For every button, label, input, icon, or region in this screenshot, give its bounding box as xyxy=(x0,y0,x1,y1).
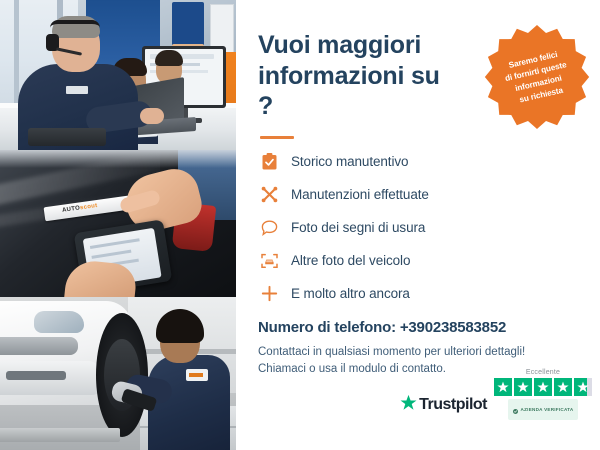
photo-top-blur xyxy=(0,150,236,168)
trustpilot-logo: Trustpilot xyxy=(400,394,487,420)
list-item: Foto dei segni di usura xyxy=(258,217,580,239)
uniform-logo-patch xyxy=(186,369,208,381)
phone-label: Numero di telefono: xyxy=(258,319,396,336)
car-lift-arm xyxy=(0,428,120,442)
wall-poster xyxy=(172,2,204,46)
speech-bubble-icon xyxy=(258,217,280,239)
star-rating xyxy=(494,378,592,396)
headline-line-2: informazioni su ? xyxy=(258,62,440,121)
list-item: E molto altro ancora xyxy=(258,283,580,305)
rating-label: Eccellente xyxy=(526,369,560,376)
bumper-vent xyxy=(6,371,66,380)
star-icon-partial xyxy=(574,378,592,396)
star-icon xyxy=(400,394,417,416)
content-panel: Vuoi maggiori informazioni su ? Storico … xyxy=(236,0,600,450)
car-inspection-photo: AUTOscout xyxy=(0,150,236,297)
clipboard-check-icon xyxy=(258,151,280,173)
promo-poster: AUTOscout xyxy=(0,0,600,450)
promo-starburst-badge: Saremo felici di fornirti queste informa… xyxy=(484,24,590,130)
colleague-2-hair xyxy=(155,50,183,66)
list-item-label: Storico manutentivo xyxy=(291,154,408,169)
status-badge: AZIENDA VERIFICATA xyxy=(508,399,579,420)
star-icon xyxy=(514,378,532,396)
trustpilot-wordmark: Trustpilot xyxy=(419,396,487,414)
operator-badge xyxy=(66,86,88,94)
star-icon xyxy=(534,378,552,396)
car-headlight xyxy=(34,311,84,333)
car-grille xyxy=(0,337,78,355)
photo-column: AUTOscout xyxy=(0,0,236,450)
headline-line-1: Vuoi maggiori xyxy=(258,31,421,59)
subtext-line-1: Contattaci in qualsiasi momento per ulte… xyxy=(258,344,580,362)
trustpilot-widget[interactable]: Trustpilot Eccellente xyxy=(400,369,592,420)
star-icon xyxy=(554,378,572,396)
headset-band xyxy=(50,20,100,28)
call-center-photo xyxy=(0,0,236,150)
list-item: Altre foto del veicolo xyxy=(258,250,580,272)
list-item-label: Foto dei segni di usura xyxy=(291,220,425,235)
foreground-laptop xyxy=(28,128,106,146)
phone-number-line[interactable]: Numero di telefono: +390238583852 xyxy=(258,319,580,336)
page-title: Vuoi maggiori informazioni su ? xyxy=(258,30,458,122)
tools-cross-icon xyxy=(258,184,280,206)
phone-line-2 xyxy=(91,250,131,259)
feature-list: Storico manutentivo Manutenzi xyxy=(258,151,580,305)
title-divider xyxy=(260,136,294,139)
operator-hand xyxy=(140,108,164,124)
mechanic-photo xyxy=(0,297,236,450)
phone-number[interactable]: +390238583852 xyxy=(400,319,506,336)
star-icon xyxy=(494,378,512,396)
list-item-label: Altre foto del veicolo xyxy=(291,253,410,268)
scan-car-icon xyxy=(258,250,280,272)
list-item: Manutenzioni effettuate xyxy=(258,184,580,206)
badge-text: Saremo felici di fornirti queste informa… xyxy=(501,48,573,108)
list-item-label: E molto altro ancora xyxy=(291,286,410,301)
verified-label: AZIENDA VERIFICATA xyxy=(521,407,574,412)
phone-line-1 xyxy=(90,238,140,249)
trustpilot-rating-block: Eccellente AZIENDA VERIFICATA xyxy=(494,369,592,420)
list-item: Storico manutentivo xyxy=(258,151,580,173)
plus-icon xyxy=(258,283,280,305)
check-circle-icon xyxy=(513,401,518,419)
ruler-brand-text: AUTOscout xyxy=(62,203,98,214)
list-item-label: Manutenzioni effettuate xyxy=(291,187,429,202)
